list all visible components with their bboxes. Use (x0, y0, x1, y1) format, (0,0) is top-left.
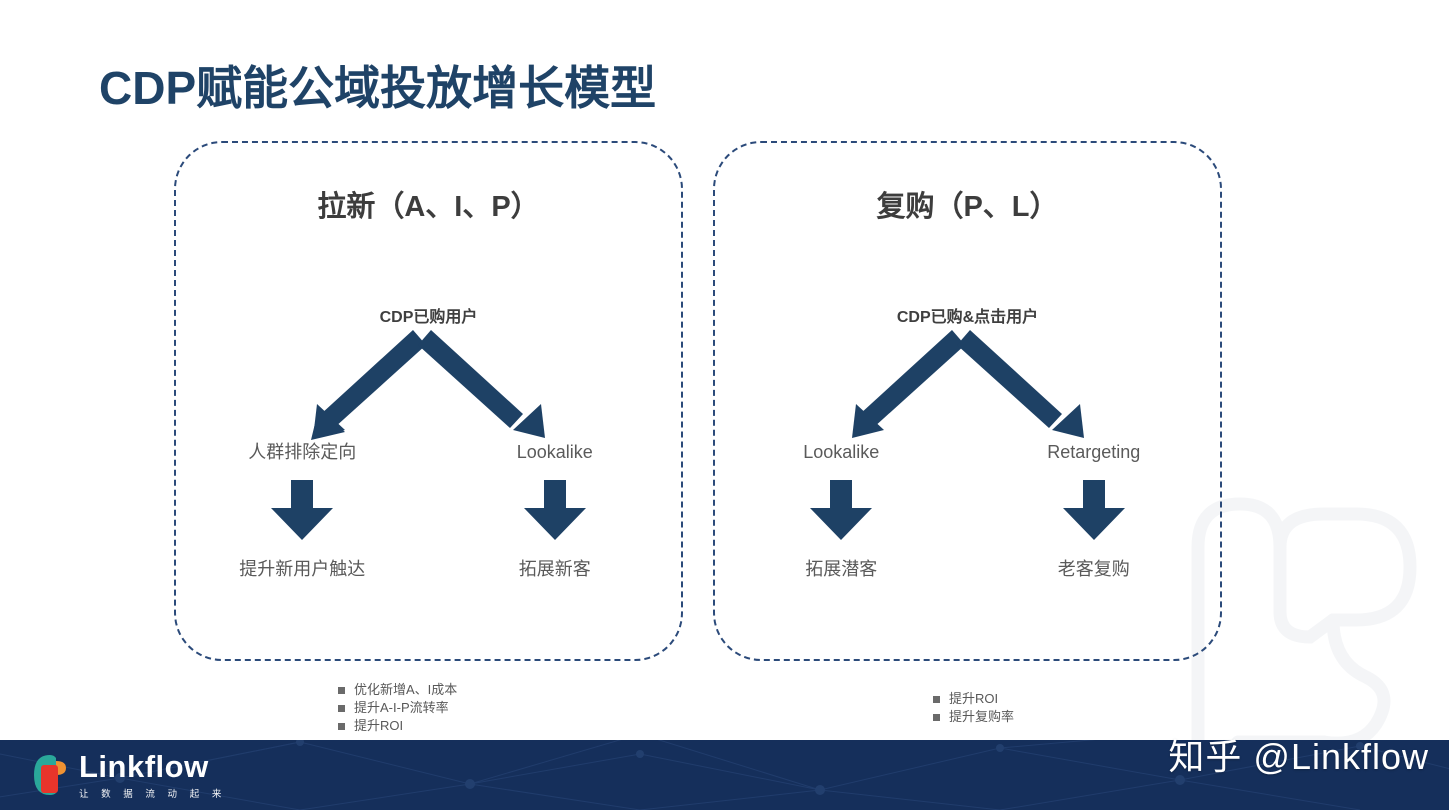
branch-label: 人群排除定向 (248, 443, 356, 461)
down-arrow-icon (1061, 480, 1127, 542)
logo-tagline: 让 数 据 流 动 起 来 (79, 786, 226, 800)
bullet-text: 提升ROI (949, 690, 998, 708)
down-arrow-icon (522, 480, 588, 542)
branch-label: Lookalike (517, 443, 593, 461)
branch-row: Lookalike 拓展潜客 Retargeting 老客复购 (715, 443, 1220, 578)
square-bullet-icon (338, 705, 345, 712)
square-bullet-icon (338, 723, 345, 730)
branch-column: Lookalike 拓展新客 (429, 443, 682, 578)
logo-text-block: Linkflow 让 数 据 流 动 起 来 (79, 751, 226, 800)
square-bullet-icon (933, 714, 940, 721)
list-item: 优化新增A、I成本 (338, 681, 457, 699)
branch-label: Retargeting (1047, 443, 1140, 461)
source-node-label: CDP已购&点击用户 (715, 303, 1220, 327)
list-item: 提升A-I-P流转率 (338, 699, 457, 717)
bullet-text: 优化新增A、I成本 (354, 681, 457, 699)
logo-wordmark: Linkflow (79, 751, 226, 782)
outcome-label: 拓展潜客 (805, 560, 877, 578)
branch-column: Retargeting 老客复购 (968, 443, 1221, 578)
branch-column: 人群排除定向 提升新用户触达 (176, 443, 429, 578)
branch-label: Lookalike (803, 443, 879, 461)
bullet-list-repurchase: 提升ROI 提升复购率 (933, 690, 1014, 726)
bullet-text: 提升A-I-P流转率 (354, 699, 449, 717)
down-arrow-icon (808, 480, 874, 542)
page-title: CDP赋能公域投放增长模型 (99, 63, 656, 114)
brand-logo: Linkflow 让 数 据 流 动 起 来 (30, 751, 226, 800)
slide-canvas: CDP赋能公域投放增长模型 拉新（A、I、P） CDP已购用户 人群排除定向 (0, 0, 1449, 810)
bullet-text: 提升复购率 (949, 708, 1014, 726)
outcome-label: 提升新用户触达 (239, 560, 365, 578)
source-node-label: CDP已购用户 (176, 303, 681, 327)
split-arrows-icon (299, 328, 559, 448)
branch-row: 人群排除定向 提升新用户触达 Lookalike 拓展新客 (176, 443, 681, 578)
split-arrows-icon (838, 328, 1098, 448)
list-item: 提升ROI (338, 717, 457, 735)
zhihu-watermark: 知乎 @Linkflow (1168, 728, 1429, 780)
list-item: 提升ROI (933, 690, 1014, 708)
panel-heading: 复购（P、L） (715, 183, 1220, 225)
bullet-text: 提升ROI (354, 717, 403, 735)
square-bullet-icon (933, 696, 940, 703)
branch-column: Lookalike 拓展潜客 (715, 443, 968, 578)
bullet-list-acquisition: 优化新增A、I成本 提升A-I-P流转率 提升ROI (338, 681, 457, 735)
outcome-label: 老客复购 (1058, 560, 1130, 578)
down-arrow-icon (269, 480, 335, 542)
panel-heading: 拉新（A、I、P） (176, 183, 681, 225)
outcome-label: 拓展新客 (519, 560, 591, 578)
square-bullet-icon (338, 687, 345, 694)
panel-repurchase: 复购（P、L） CDP已购&点击用户 Lookalike 拓展潜客 Retarg… (713, 141, 1222, 661)
panel-acquisition: 拉新（A、I、P） CDP已购用户 人群排除定向 提升新用户触达 Lookali… (174, 141, 683, 661)
linkflow-logo-mark-icon (30, 753, 70, 798)
list-item: 提升复购率 (933, 708, 1014, 726)
